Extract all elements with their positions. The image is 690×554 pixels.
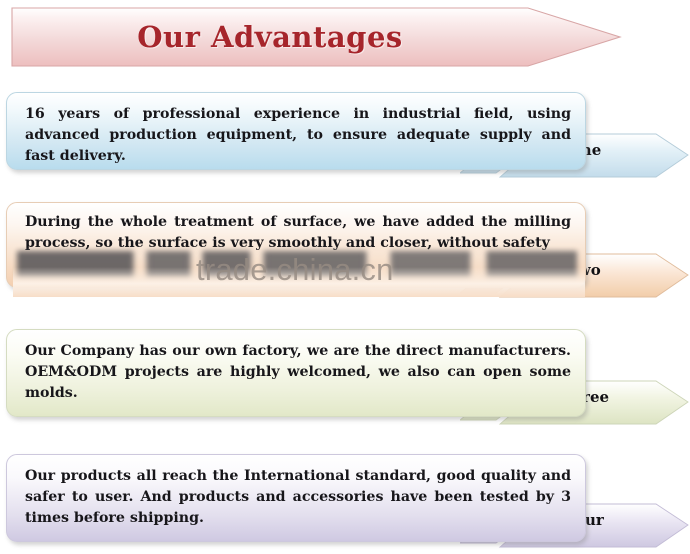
advantage-bubble-three: Our Company has our own factory, we are … <box>6 329 586 417</box>
watermark-text: trade.china.cn <box>196 252 394 288</box>
advantage-text-four: Our products all reach the International… <box>25 466 571 529</box>
advantage-block-three: Three Our Company has our own factory, w… <box>0 325 690 437</box>
advantage-text-three: Our Company has our own factory, we are … <box>25 341 571 404</box>
page-title: Our Advantages <box>10 6 530 68</box>
header-banner: Our Advantages <box>10 6 622 68</box>
advantage-bubble-four: Our products all reach the International… <box>6 454 586 542</box>
advantage-block-one: One 16 years of professional experience … <box>0 88 690 190</box>
advantage-bubble-one: 16 years of professional experience in i… <box>6 92 586 170</box>
advantage-text-one: 16 years of professional experience in i… <box>25 104 571 167</box>
advantage-text-two: During the whole treatment of surface, w… <box>25 212 571 254</box>
advantage-block-four: Four Our products all reach the Internat… <box>0 450 690 554</box>
